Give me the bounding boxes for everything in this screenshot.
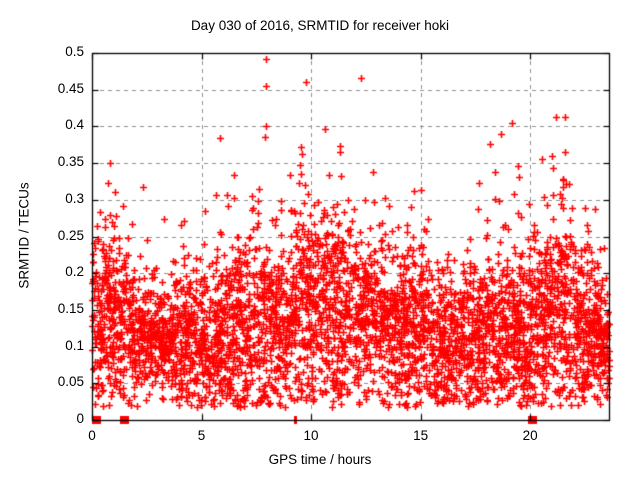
y-tick-label: 0.5 xyxy=(65,44,84,59)
y-tick-label: 0.15 xyxy=(58,301,84,316)
x-tick-label: 5 xyxy=(172,428,232,443)
y-axis-title: SRMTID / TECUs xyxy=(17,136,32,336)
x-tick-label: 10 xyxy=(281,428,341,443)
y-tick-label: 0.2 xyxy=(65,264,84,279)
x-tick-label: 20 xyxy=(500,428,560,443)
x-tick-label: 0 xyxy=(62,428,122,443)
y-tick-label: 0.45 xyxy=(58,81,84,96)
y-tick-label: 0.3 xyxy=(65,191,84,206)
y-tick-label: 0.4 xyxy=(65,117,84,132)
y-tick-label: 0.1 xyxy=(65,338,84,353)
x-axis-title: GPS time / hours xyxy=(0,452,640,467)
y-tick-label: 0 xyxy=(76,411,84,426)
scatter-plot-canvas xyxy=(0,0,640,480)
chart-container: Day 030 of 2016, SRMTID for receiver hok… xyxy=(0,0,640,480)
y-tick-label: 0.05 xyxy=(58,374,84,389)
x-tick-label: 15 xyxy=(391,428,451,443)
y-tick-label: 0.35 xyxy=(58,154,84,169)
y-tick-label: 0.25 xyxy=(58,228,84,243)
